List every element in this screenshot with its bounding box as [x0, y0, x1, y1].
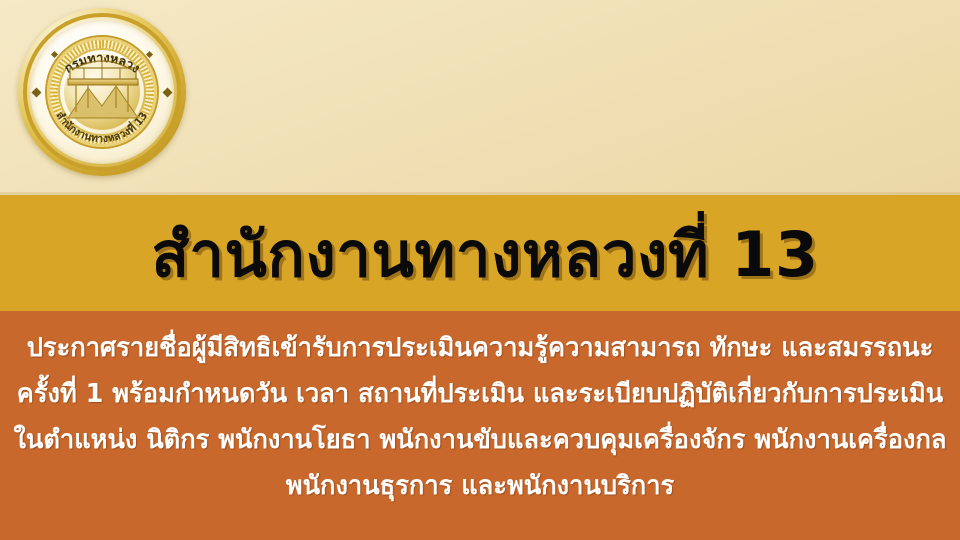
- header-band: กรมทางหลวง สำนักงานทางหลวงที่ 13: [0, 0, 960, 195]
- announcement-line: ในตำแหน่ง นิติกร พนักงานโยธา พนักงานขับแ…: [13, 417, 946, 463]
- announcement-line: ครั้งที่ 1 พร้อมกำหนดวัน เวลา สถานที่ประ…: [17, 371, 943, 417]
- announcement-line: พนักงานธุรการ และพนักงานบริการ: [286, 463, 674, 509]
- page-title: สำนักงานทางหลวงที่ 13: [151, 224, 818, 286]
- announcement-banner: กรมทางหลวง สำนักงานทางหลวงที่ 13: [0, 0, 960, 540]
- announcement-text: ประกาศรายชื่อผู้มีสิทธิเข้ารับการประเมิน…: [0, 325, 960, 509]
- agency-emblem: กรมทางหลวง สำนักงานทางหลวงที่ 13: [18, 8, 186, 176]
- title-band: สำนักงานทางหลวงที่ 13: [0, 195, 960, 311]
- body-band: ประกาศรายชื่อผู้มีสิทธิเข้ารับการประเมิน…: [0, 311, 960, 540]
- emblem-center-disc: [64, 54, 140, 130]
- emblem-disc: กรมทางหลวง สำนักงานทางหลวงที่ 13: [18, 8, 186, 176]
- announcement-line: ประกาศรายชื่อผู้มีสิทธิเข้ารับการประเมิน…: [27, 325, 934, 371]
